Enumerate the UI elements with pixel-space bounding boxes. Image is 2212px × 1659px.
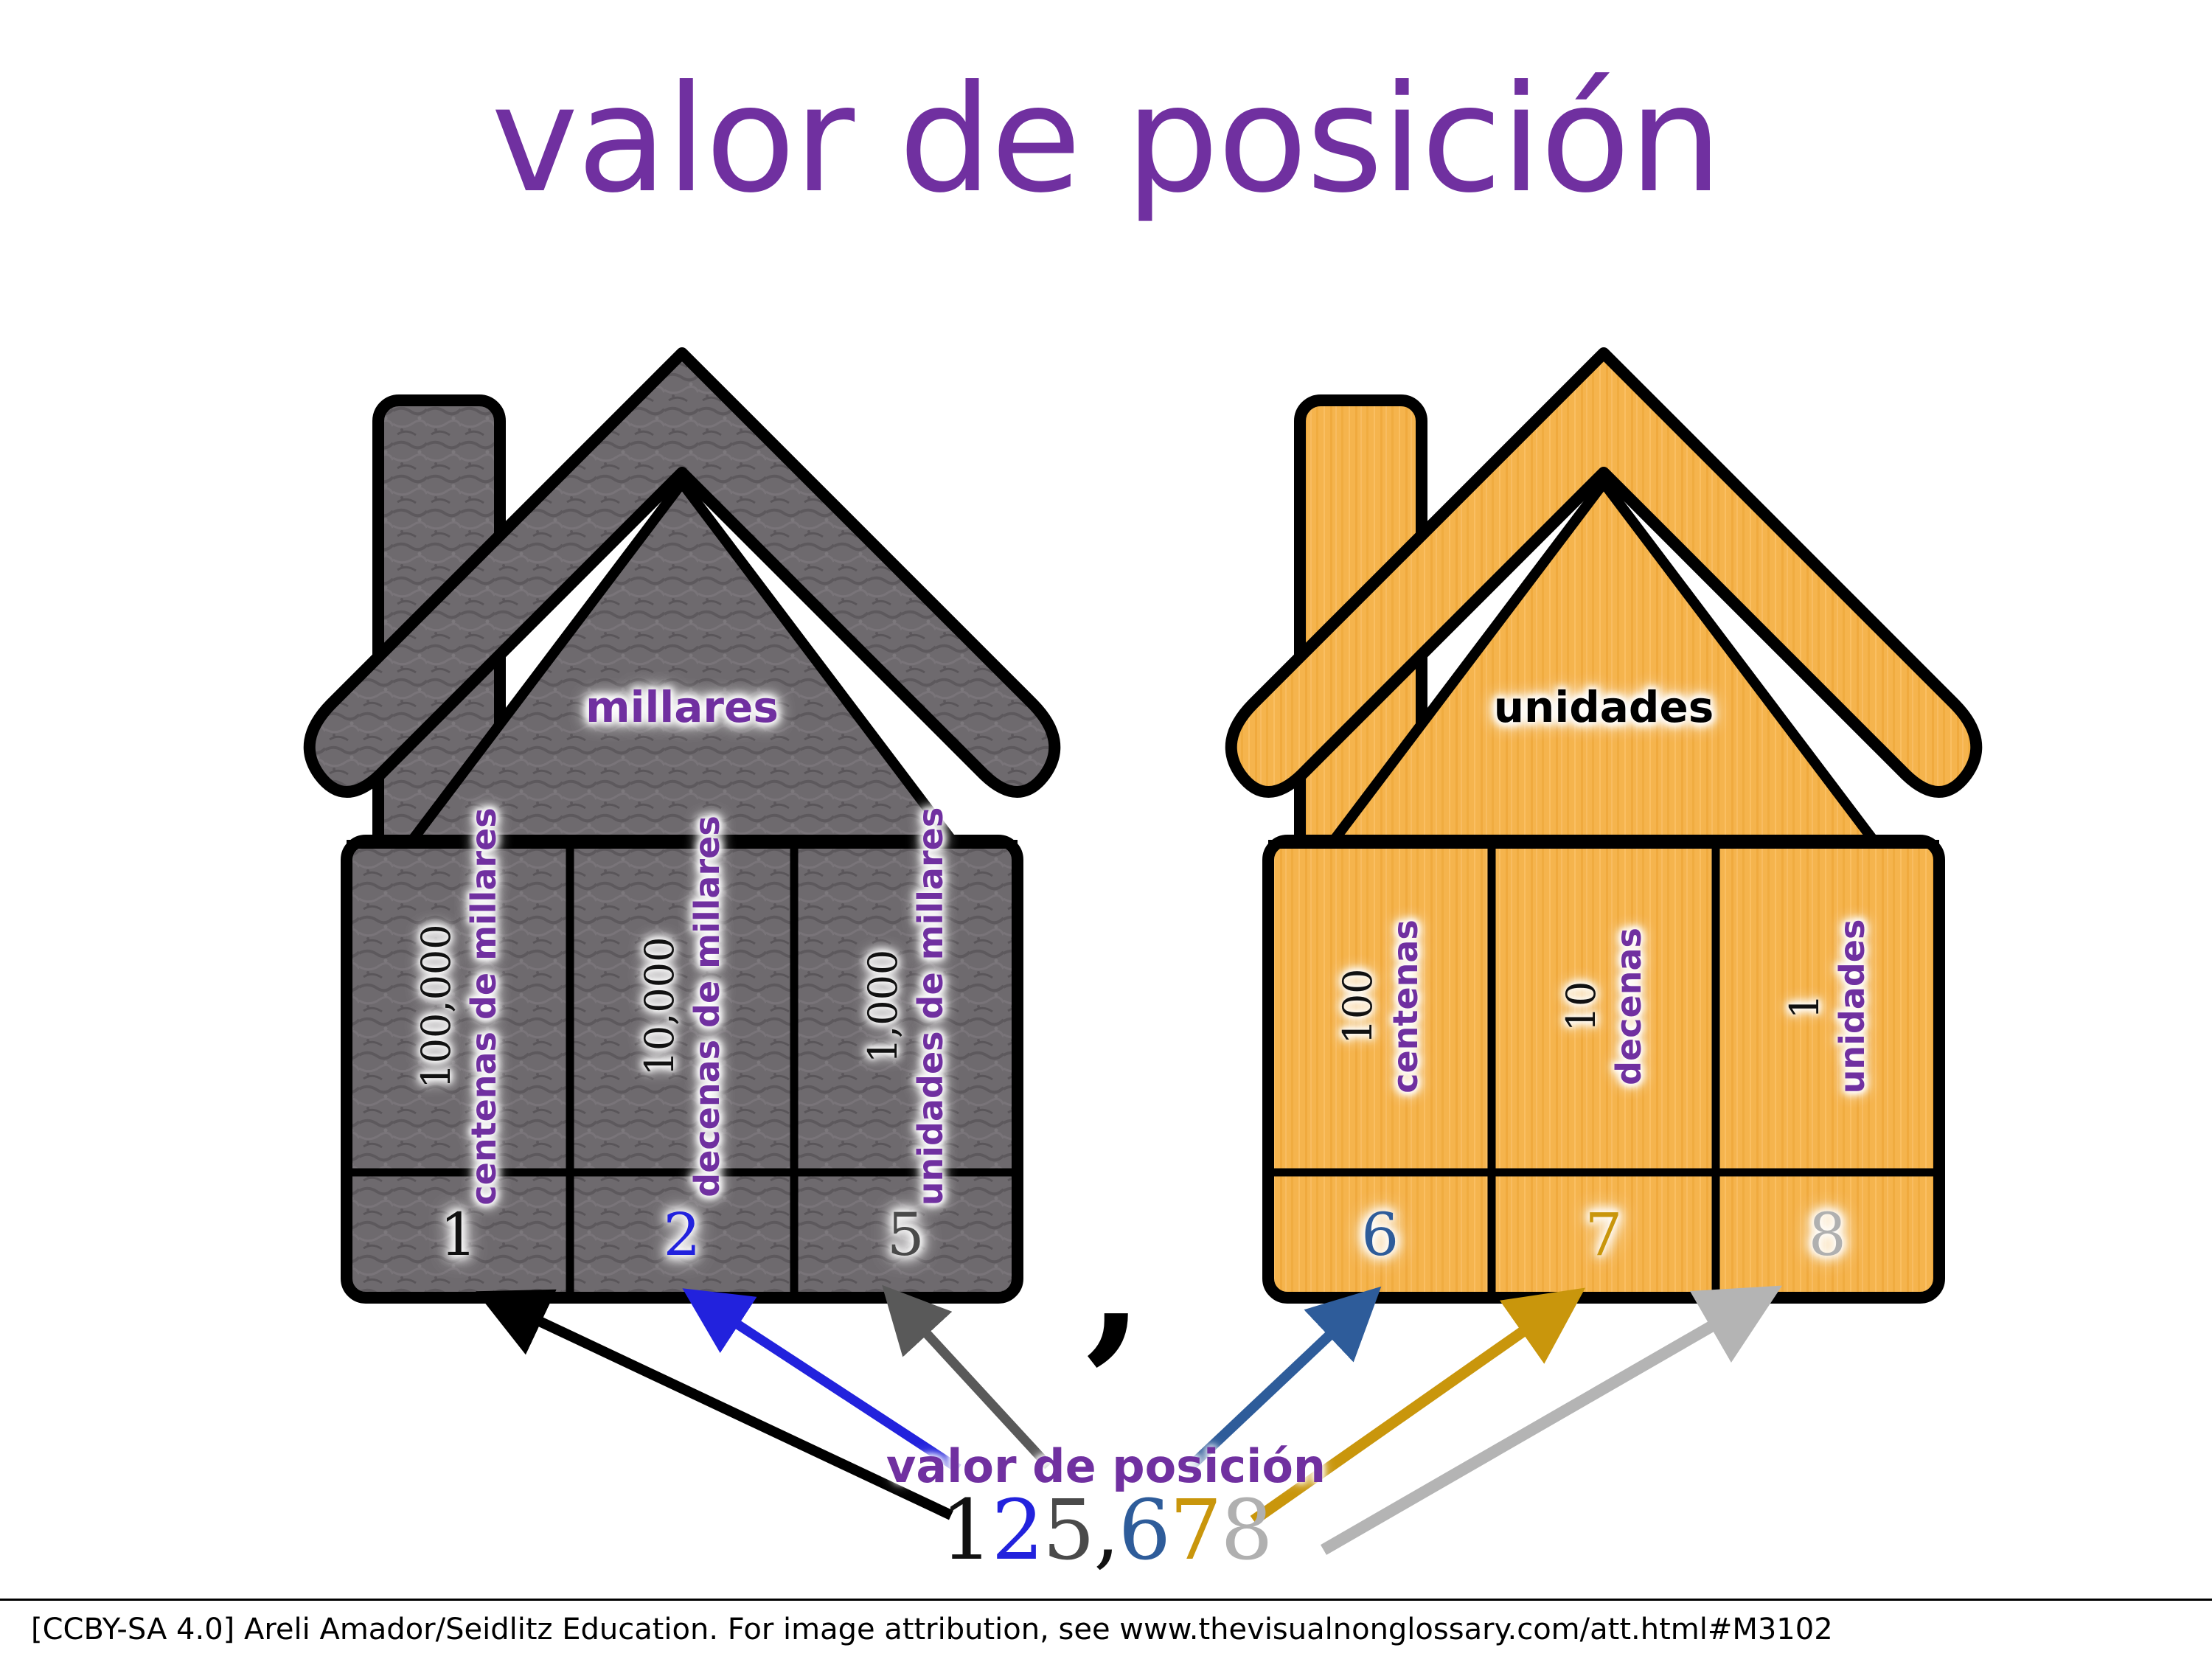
column-value: 10,000: [640, 937, 680, 1077]
number-digit-5: 5: [1043, 1483, 1093, 1579]
digit-6: 6: [1361, 1206, 1399, 1265]
house-unidades-columns: centenas 100 6 decenas 10 7: [1268, 841, 1939, 1298]
column-decenas[interactable]: decenas 10 7: [1492, 841, 1715, 1298]
column-vertical-labels: unidades 1: [1785, 919, 1869, 1094]
column-unidades-de-millares[interactable]: unidades de millares 1,000 5: [794, 841, 1018, 1298]
digit-8: 8: [1809, 1206, 1846, 1265]
digit-7: 7: [1585, 1206, 1623, 1265]
column-name: unidades: [1835, 919, 1869, 1094]
column-value: 100: [1338, 968, 1378, 1044]
column-label-cell: centenas de millares 100,000: [347, 841, 570, 1172]
house-millares-columns: centenas de millares 100,000 1 decenas d…: [347, 841, 1018, 1298]
column-name: unidades de millares: [914, 807, 947, 1206]
column-unidades[interactable]: unidades 1 8: [1716, 841, 1939, 1298]
column-vertical-labels: decenas de millares 10,000: [640, 815, 724, 1197]
column-centenas-de-millares[interactable]: centenas de millares 100,000 1: [347, 841, 570, 1298]
place-value-number: 125,678: [0, 1489, 2212, 1572]
number-digit-2: 2: [992, 1483, 1043, 1579]
column-digit-cell: 1: [347, 1172, 570, 1298]
column-label-cell: decenas de millares 10,000: [570, 841, 793, 1172]
house-millares: millares centenas de millares 100,000 1 …: [291, 335, 1073, 1360]
digit-1: 1: [439, 1206, 477, 1265]
column-name: decenas: [1612, 928, 1646, 1085]
number-digit-8: 8: [1220, 1483, 1271, 1579]
diagram-stage: millares centenas de millares 100,000 1 …: [0, 0, 2212, 1659]
column-value: 100,000: [417, 924, 456, 1088]
column-value: 1,000: [863, 950, 903, 1064]
number-digit-6: 6: [1119, 1483, 1169, 1579]
attribution-footer: [CCBY-SA 4.0] Areli Amador/Seidlitz Educ…: [0, 1599, 2212, 1659]
column-vertical-labels: centenas de millares 100,000: [417, 807, 501, 1205]
column-digit-cell: 5: [794, 1172, 1018, 1298]
column-digit-cell: 7: [1492, 1172, 1715, 1298]
house-millares-roof-label: millares: [291, 682, 1073, 732]
column-label-cell: unidades 1: [1716, 841, 1939, 1172]
house-unidades-roof-label: unidades: [1213, 682, 1994, 732]
column-value: 10: [1562, 981, 1601, 1032]
column-name: centenas: [1388, 919, 1422, 1093]
digit-5: 5: [887, 1206, 925, 1265]
number-digit-1: 1: [940, 1483, 991, 1579]
thousands-separator-comma: ,: [1085, 1196, 1144, 1366]
column-digit-cell: 2: [570, 1172, 793, 1298]
column-centenas[interactable]: centenas 100 6: [1268, 841, 1492, 1298]
attribution-text: [CCBY-SA 4.0] Areli Amador/Seidlitz Educ…: [31, 1613, 1833, 1646]
column-label-cell: decenas 10: [1492, 841, 1715, 1172]
column-decenas-de-millares[interactable]: decenas de millares 10,000 2: [570, 841, 793, 1298]
column-label-cell: unidades de millares 1,000: [794, 841, 1018, 1172]
number-comma: ,: [1093, 1483, 1119, 1579]
column-vertical-labels: unidades de millares 1,000: [863, 807, 947, 1206]
column-name: centenas de millares: [467, 807, 501, 1205]
column-vertical-labels: decenas 10: [1562, 928, 1646, 1085]
column-vertical-labels: centenas 100: [1338, 919, 1422, 1093]
column-label-cell: centenas 100: [1268, 841, 1492, 1172]
column-value: 1: [1785, 994, 1825, 1019]
column-digit-cell: 6: [1268, 1172, 1492, 1298]
column-digit-cell: 8: [1716, 1172, 1939, 1298]
number-digit-7: 7: [1169, 1483, 1220, 1579]
column-name: decenas de millares: [690, 815, 724, 1197]
digit-2: 2: [664, 1206, 701, 1265]
house-unidades: unidades centenas 100 6 decenas 10: [1213, 335, 1994, 1360]
